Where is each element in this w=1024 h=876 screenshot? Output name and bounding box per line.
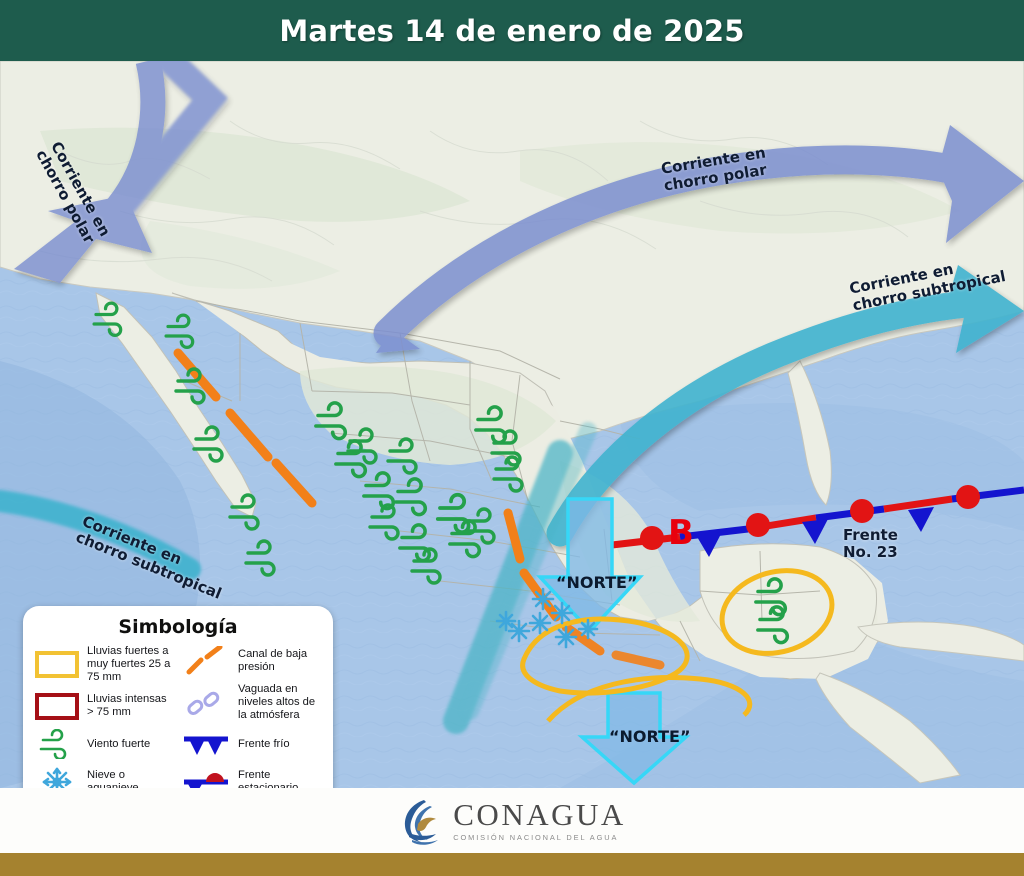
legend-item-snow: Nieve o aguanieve	[33, 766, 176, 788]
rain-box-red-icon	[33, 690, 81, 722]
legend-item-upper-trough: Vaguada en niveles altos de la atmósfera	[180, 683, 323, 722]
conagua-emblem-icon	[398, 796, 444, 846]
legend-column-right: Canal de baja presión Vaguada en nive	[180, 645, 323, 788]
legend-label: Vaguada en niveles altos de la atmósfera	[238, 683, 323, 722]
legend-label: Viento fuerte	[87, 738, 150, 751]
snowflake-icon	[33, 766, 81, 788]
legend-item-low-pressure-trough: Canal de baja presión	[180, 645, 323, 677]
header-bar: Martes 14 de enero de 2025	[0, 0, 1024, 61]
footer-gold-bar	[0, 853, 1024, 876]
rain-box-yellow-icon	[33, 649, 81, 681]
page-title: Martes 14 de enero de 2025	[279, 14, 744, 48]
footer-bar: CONAGUA COMISIÓN NACIONAL DEL AGUA	[0, 788, 1024, 853]
legend-item-heavy-rain: Lluvias fuertes a muy fuertes 25 a 75 mm	[33, 645, 176, 684]
legend-item-stationary-front: Frente estacionario	[180, 766, 323, 788]
weather-map-page: Martes 14 de enero de 2025	[0, 0, 1024, 876]
legend-item-strong-wind: Viento fuerte	[33, 728, 176, 760]
legend-label: Frente estacionario	[238, 769, 323, 788]
legend-label: Lluvias intensas > 75 mm	[87, 693, 176, 719]
logo-wordmark: CONAGUA	[453, 799, 626, 830]
upper-trough-icon	[180, 687, 232, 719]
cold-front-icon	[180, 728, 232, 760]
wind-swirl-icon	[33, 728, 81, 760]
logo-tagline: COMISIÓN NACIONAL DEL AGUA	[453, 833, 626, 842]
legend-column-left: Lluvias fuertes a muy fuertes 25 a 75 mm…	[33, 645, 176, 788]
trough-dashed-icon	[180, 645, 232, 677]
weather-map: Corriente en chorro polar Corriente en c…	[0, 61, 1024, 788]
legend-label: Lluvias fuertes a muy fuertes 25 a 75 mm	[87, 645, 176, 684]
legend-label: Frente frío	[238, 738, 290, 751]
stationary-front-icon	[180, 766, 232, 788]
legend-label: Nieve o aguanieve	[87, 769, 176, 788]
legend-label: Canal de baja presión	[238, 648, 323, 674]
legend-title: Simbología	[33, 616, 323, 638]
legend-panel: Simbología Lluvias fuertes a muy fuertes…	[23, 606, 333, 788]
legend-item-intense-rain: Lluvias intensas > 75 mm	[33, 690, 176, 722]
legend-item-cold-front: Frente frío	[180, 728, 323, 760]
conagua-logo: CONAGUA COMISIÓN NACIONAL DEL AGUA	[398, 796, 626, 846]
